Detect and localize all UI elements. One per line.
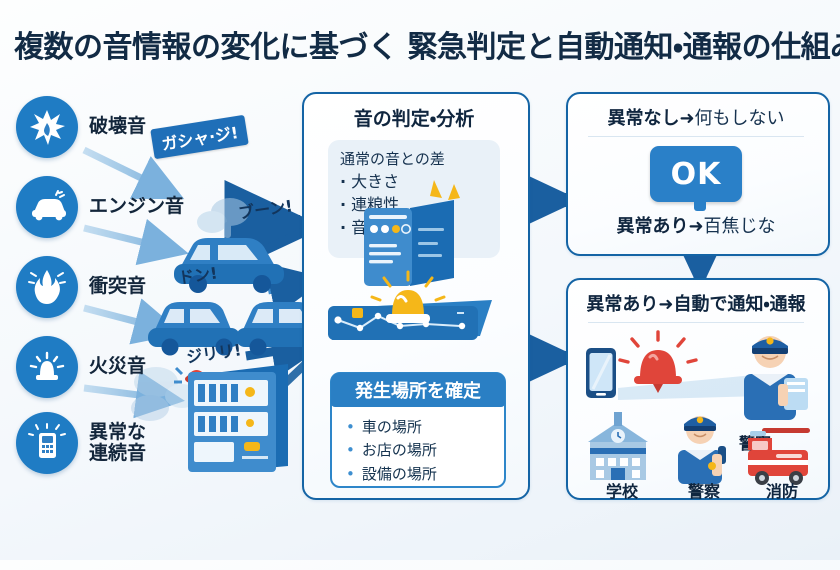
source-item-fire[interactable]: 火災音 (16, 336, 146, 398)
caption-police: 警察 (668, 478, 740, 502)
police-officer-icon (678, 416, 726, 484)
flame-icon (16, 256, 78, 318)
location-bullet: 設備の場所 (346, 463, 437, 486)
notify-bottom-icons (566, 400, 826, 520)
panel-divider (588, 322, 804, 323)
source-label: 火災音 (89, 356, 146, 377)
source-label: 破壊音 (89, 116, 146, 137)
ok-badge: OK (650, 146, 742, 202)
location-box-title: 発生場所を確定 (331, 373, 505, 407)
no-anomaly-label: 異常なし (607, 108, 679, 129)
analysis-panel-title: 音の判定・分析 (302, 104, 526, 131)
source-label: 異常な 連続音 (89, 422, 146, 465)
location-bullet: 車の場所 (346, 416, 437, 439)
location-bullet: お店の場所 (346, 439, 437, 462)
caption-school: 学校 (586, 478, 658, 502)
arrow-glyph: ➜ (688, 216, 703, 237)
source-item-collision[interactable]: 衝突音 (16, 256, 146, 318)
location-bullet-list: 車の場所 お店の場所 設備の場所 (346, 416, 437, 486)
anomaly-label: 異常あり (616, 216, 688, 237)
arrow-glyph: ➜ (679, 108, 694, 129)
arrow-glyph: ➜ (658, 294, 673, 315)
source-item-continuous[interactable]: 異常な 連続音 (16, 412, 146, 474)
page-title: 複数の音情報の変化に基づく 緊急判定と自動通知・通報の仕組み (14, 22, 826, 66)
notify-title-action: 自動で通知・通報 (673, 294, 805, 315)
siren-light-icon (16, 336, 78, 398)
infographic-canvas: 複数の音情報の変化に基づく 緊急判定と自動通知・通報の仕組み (0, 0, 840, 560)
anomaly-action: 百焦じな (704, 216, 776, 237)
school-building-icon (588, 412, 648, 480)
source-label: エンジン音 (89, 196, 184, 217)
no-anomaly-row: 異常なし➜何もしない (566, 104, 826, 130)
subcard-heading: 通常の音との差 (340, 148, 445, 169)
smartphone-icon (586, 348, 616, 398)
explosion-icon (16, 96, 78, 158)
notify-panel-title: 異常あり➜自動で通知・通報 (566, 290, 826, 316)
vending-machine-illustration (188, 364, 288, 472)
source-label: 衝突音 (89, 276, 146, 297)
source-item-engine[interactable]: エンジン音 (16, 176, 184, 238)
panel-divider (588, 136, 804, 137)
location-box: 発生場所を確定 車の場所 お店の場所 設備の場所 (330, 372, 506, 488)
notify-title-label: 異常あり (586, 294, 658, 315)
car-engine-icon (16, 176, 78, 238)
analyzer-device-icon (364, 180, 460, 286)
no-anomaly-action: 何もしない (695, 108, 785, 129)
source-item-destruction[interactable]: 破壊音 (16, 96, 146, 158)
ringing-phone-icon (16, 412, 78, 474)
fire-truck-icon (748, 428, 810, 485)
caption-fire: 消防 (746, 478, 818, 502)
anomaly-row: 異常あり➜百焦じな (566, 212, 826, 238)
